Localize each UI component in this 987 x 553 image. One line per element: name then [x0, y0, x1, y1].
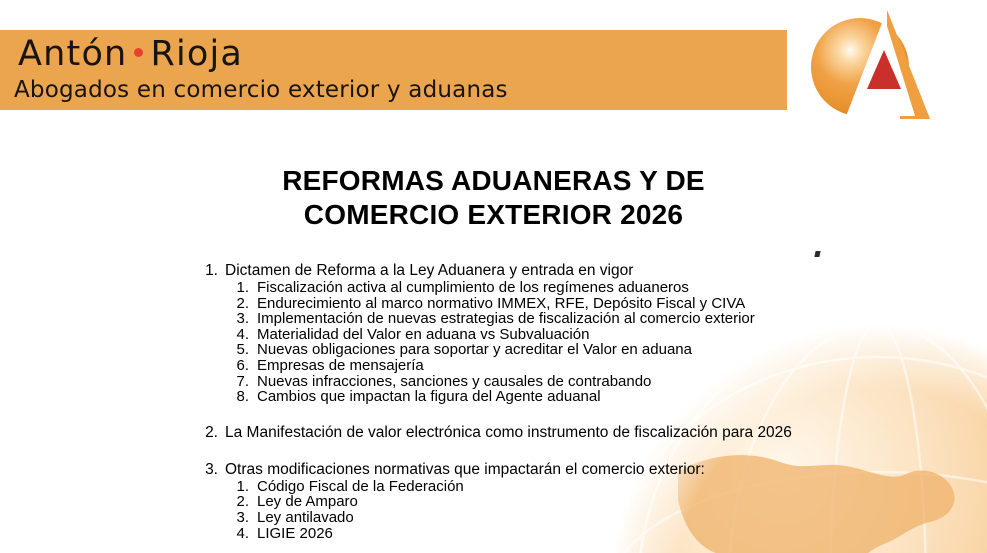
list-item: 7. Nuevas infracciones, sanciones y caus… [233, 374, 936, 390]
spacer [196, 405, 936, 423]
list-item-number: 2. [233, 296, 257, 312]
list-item-label: Materialidad del Valor en aduana vs Subv… [257, 327, 589, 343]
list-item-number: 3. [233, 510, 257, 526]
list-item-number: 7. [233, 374, 257, 390]
list-item: 3. Otras modificaciones normativas que i… [196, 460, 936, 479]
list-item-label: Dictamen de Reforma a la Ley Aduanera y … [225, 261, 633, 280]
list-item-label: Implementación de nuevas estrategias de … [257, 311, 755, 327]
spacer [196, 442, 936, 460]
page-title-line2: COMERCIO EXTERIOR 2026 [0, 198, 987, 232]
list-item: 1. Código Fiscal de la Federación [233, 479, 936, 495]
list-item: 2. La Manifestación de valor electrónica… [196, 423, 936, 442]
list-item: 4. LIGIE 2026 [233, 526, 936, 542]
list-item-label: Nuevas infracciones, sanciones y causale… [257, 374, 651, 390]
list-item: 6. Empresas de mensajería [233, 358, 936, 374]
slide-canvas: AntónRioja Abogados en comercio exterior… [0, 0, 987, 553]
sphere-triangle-logo-icon [804, 4, 940, 130]
sublist: 1. Código Fiscal de la Federación 2. Ley… [233, 479, 936, 541]
list-item-number: 1. [196, 261, 225, 280]
list-item-label: LIGIE 2026 [257, 526, 333, 542]
brand-name-first: Antón [18, 34, 127, 74]
list-item-label: Ley de Amparo [257, 494, 358, 510]
list-item-number: 1. [233, 479, 257, 495]
list-item: 3. Implementación de nuevas estrategias … [233, 311, 936, 327]
list-item-label: Empresas de mensajería [257, 358, 424, 374]
list-item: 3. Ley antilavado [233, 510, 936, 526]
brand-separator-dot-icon [134, 48, 143, 57]
list-item: 2. Endurecimiento al marco normativo IMM… [233, 296, 936, 312]
list-item-label: Endurecimiento al marco normativo IMMEX,… [257, 296, 745, 312]
list-item-number: 2. [233, 494, 257, 510]
list-item-number: 4. [233, 526, 257, 542]
page-title: REFORMAS ADUANERAS Y DE COMERCIO EXTERIO… [0, 164, 987, 232]
outline-list: 1. Dictamen de Reforma a la Ley Aduanera… [196, 261, 936, 541]
list-item: 4. Materialidad del Valor en aduana vs S… [233, 327, 936, 343]
brand-tagline: Abogados en comercio exterior y aduanas [14, 75, 508, 105]
list-item: 1. Dictamen de Reforma a la Ley Aduanera… [196, 261, 936, 280]
list-item: 5. Nuevas obligaciones para soportar y a… [233, 342, 936, 358]
list-item-label: Fiscalización activa al cumplimiento de … [257, 280, 689, 296]
list-item-number: 6. [233, 358, 257, 374]
brand-name-second: Rioja [150, 34, 243, 74]
sublist: 1. Fiscalización activa al cumplimiento … [233, 280, 936, 405]
list-item-label: La Manifestación de valor electrónica co… [225, 423, 792, 442]
brand-banner: AntónRioja Abogados en comercio exterior… [0, 30, 787, 110]
list-item-number: 4. [233, 327, 257, 343]
list-item-number: 3. [196, 460, 225, 479]
list-item-number: 8. [233, 389, 257, 405]
list-item-number: 5. [233, 342, 257, 358]
list-item: 8. Cambios que impactan la figura del Ag… [233, 389, 936, 405]
list-item-label: Nuevas obligaciones para soportar y acre… [257, 342, 692, 358]
brand-name: AntónRioja [18, 32, 243, 76]
list-item: 2. Ley de Amparo [233, 494, 936, 510]
list-item-label: Código Fiscal de la Federación [257, 479, 464, 495]
list-item-number: 2. [196, 423, 225, 442]
list-item-number: 3. [233, 311, 257, 327]
list-item-number: 1. [233, 280, 257, 296]
list-item-label: Otras modificaciones normativas que impa… [225, 460, 705, 479]
list-item-label: Cambios que impactan la figura del Agent… [257, 389, 601, 405]
page-title-line1: REFORMAS ADUANERAS Y DE [0, 164, 987, 198]
stray-cursor-artifact [814, 251, 820, 257]
list-item: 1. Fiscalización activa al cumplimiento … [233, 280, 936, 296]
list-item-label: Ley antilavado [257, 510, 354, 526]
